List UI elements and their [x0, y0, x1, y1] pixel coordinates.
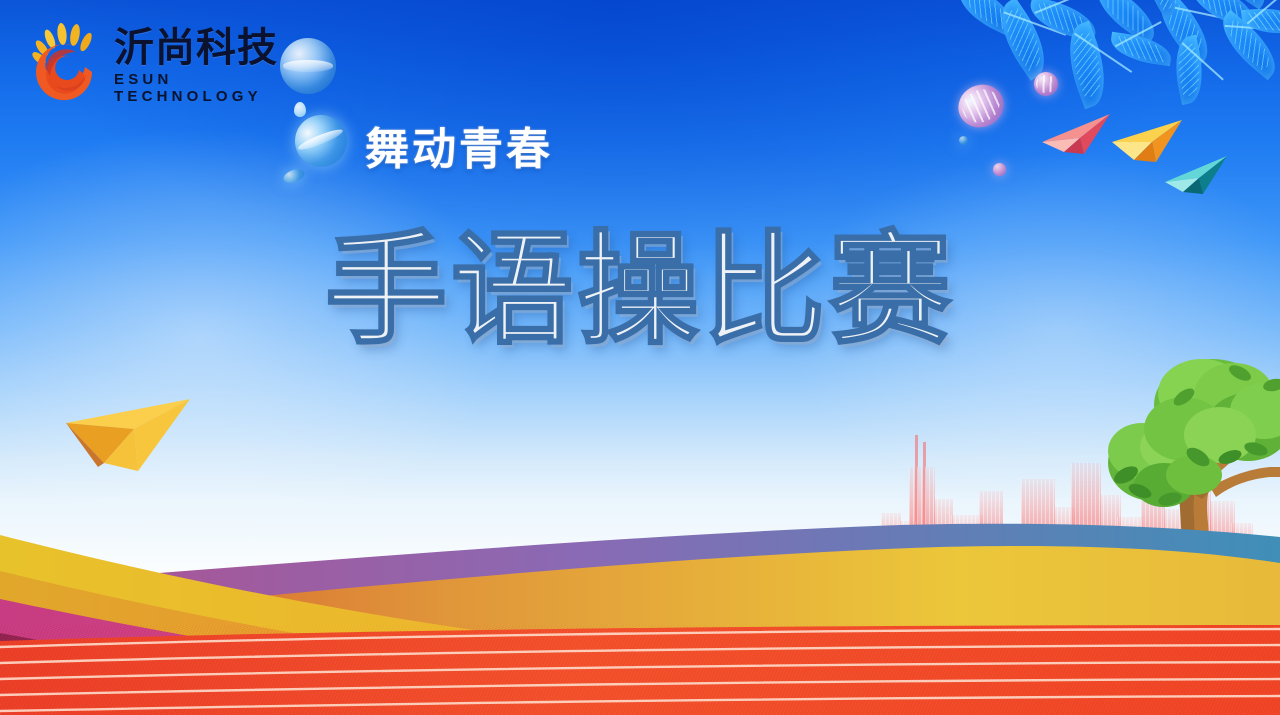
logo-bubble-decor	[280, 38, 336, 94]
bubble-band	[296, 126, 344, 153]
bubble-pink-medium	[1034, 72, 1058, 96]
running-track	[0, 625, 1280, 715]
poster-canvas: 沂尚科技 ESUN TECHNOLOGY 舞动青春 手语操比赛	[0, 0, 1280, 715]
bubble-stripe	[1036, 75, 1056, 93]
brand-logo[interactable]: 沂尚科技 ESUN TECHNOLOGY	[22, 16, 322, 112]
bubble-band	[283, 60, 332, 71]
paper-plane-pink	[1040, 108, 1118, 160]
paper-plane-teal	[1163, 148, 1235, 198]
esun-swirl-icon	[22, 22, 108, 108]
poster-subtitle: 舞动青春	[365, 128, 553, 172]
swirl-accent	[46, 49, 76, 76]
bubble-cyan-tiny	[959, 136, 968, 145]
bubble-pink-tiny	[993, 163, 1006, 176]
water-drop-icon	[294, 102, 306, 117]
poster-main-title: 手语操比赛	[325, 222, 955, 359]
